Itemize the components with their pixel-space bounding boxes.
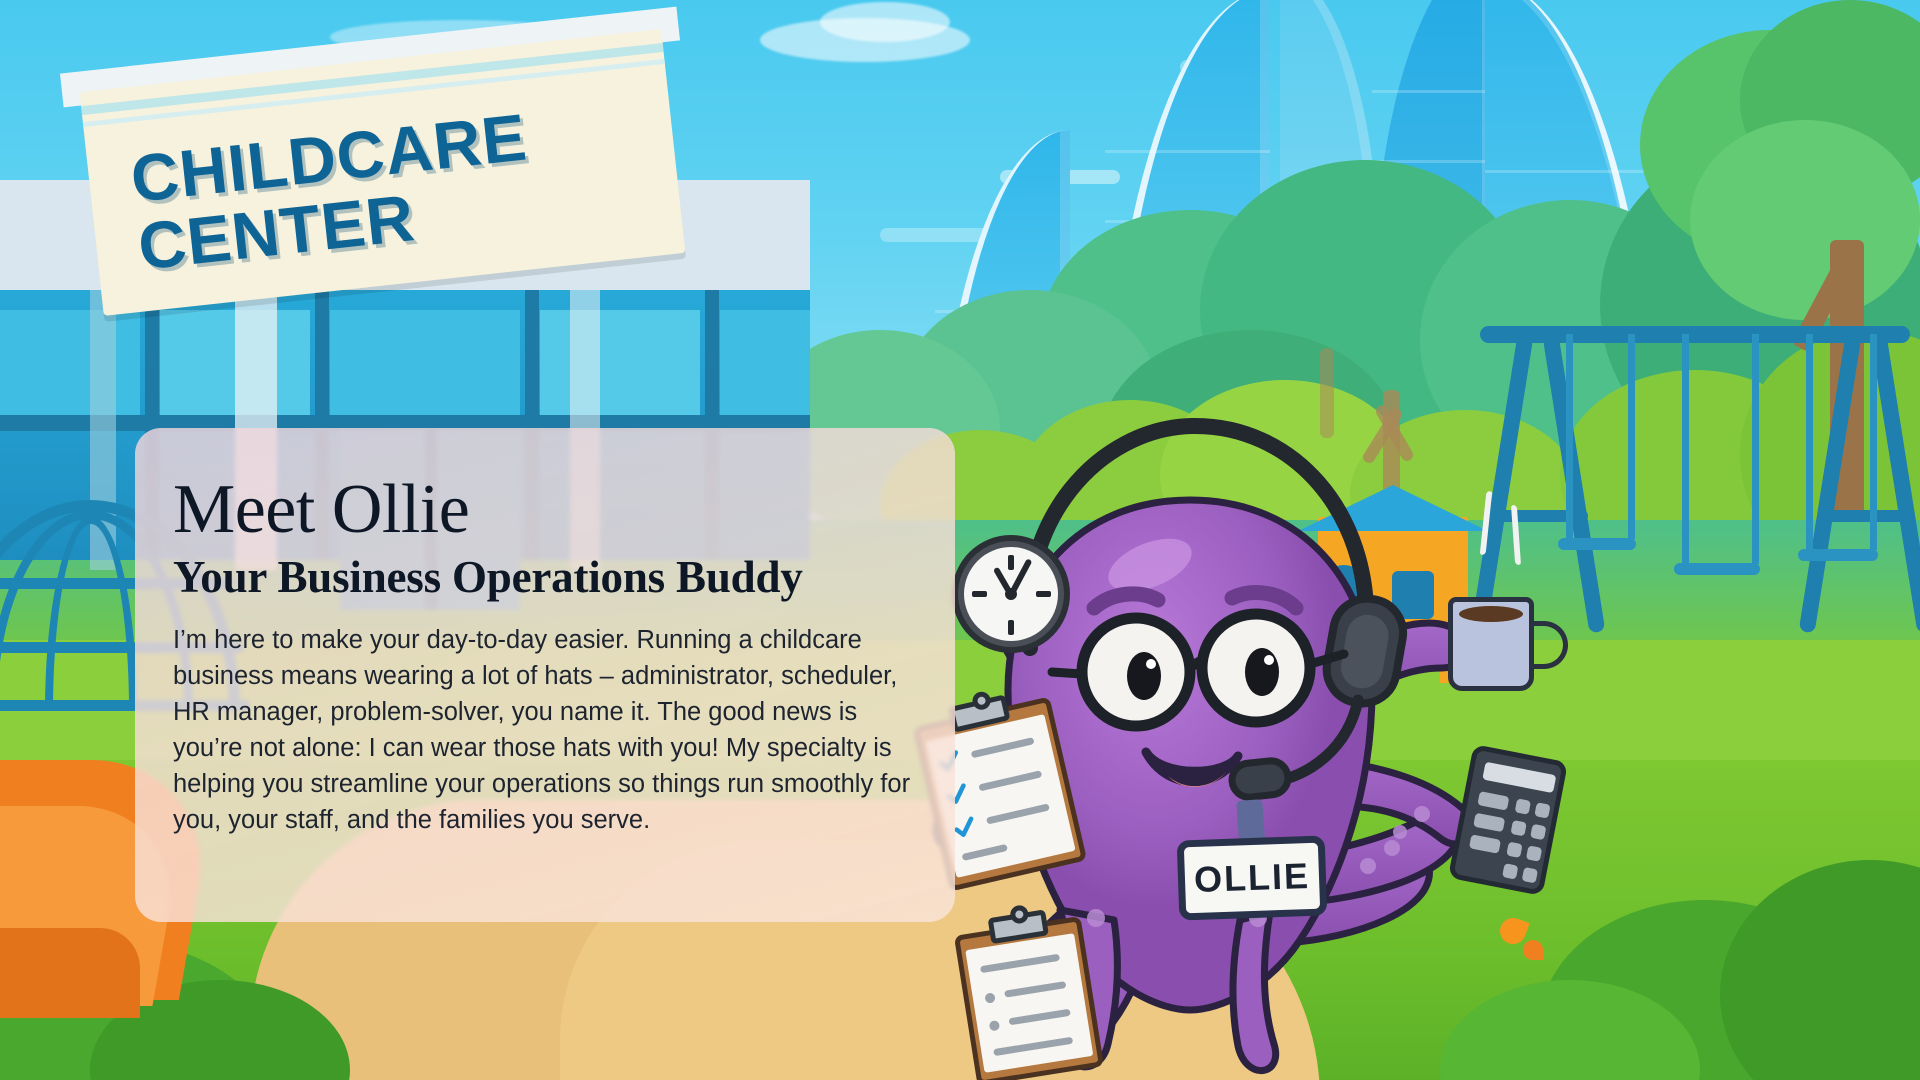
flower-icon [1523, 940, 1543, 960]
coffee-mug [1448, 587, 1556, 691]
notes-clipboard [954, 916, 1104, 1080]
card-subheading: Your Business Operations Buddy [173, 552, 955, 602]
wall-clock [952, 535, 1070, 653]
check-icon [952, 815, 978, 841]
card-body-text: I’m here to make your day-to-day easier.… [173, 622, 913, 838]
name-badge: OLLIE [1177, 835, 1328, 920]
illustration-scene: CHILDCARE CENTER [0, 0, 1920, 1080]
card-heading: Meet Ollie [173, 472, 955, 548]
name-badge-text: OLLIE [1193, 855, 1310, 901]
meet-ollie-card: Meet Ollie Your Business Operations Budd… [135, 428, 955, 922]
